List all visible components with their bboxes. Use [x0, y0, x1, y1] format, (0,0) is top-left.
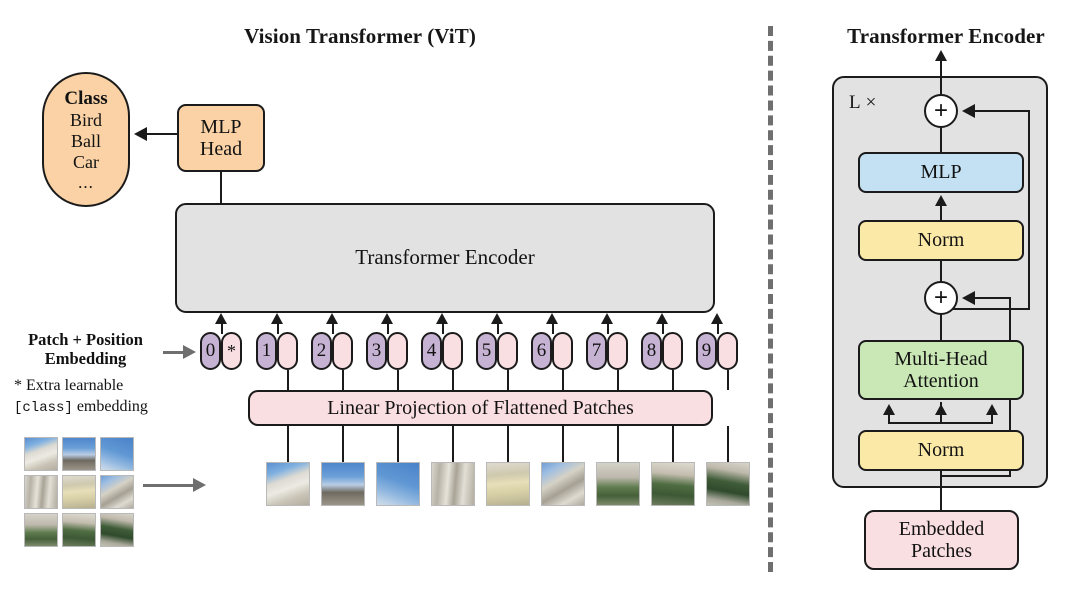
patch-stem-7 — [672, 426, 674, 466]
residual-add-top: + — [924, 94, 958, 128]
left-panel-title: Vision Transformer (ViT) — [150, 24, 570, 49]
mlp-block: MLP — [858, 152, 1024, 193]
add-top-to-output-line — [940, 76, 942, 96]
patch-stem-5 — [562, 426, 564, 466]
source-patch-4 — [62, 475, 96, 509]
extra-learnable-footnote: * Extra learnable [class] embedding — [14, 376, 194, 418]
patch-stem-0 — [287, 426, 289, 466]
flattened-patch-8 — [706, 462, 750, 506]
source-patch-7 — [62, 513, 96, 547]
linear-projection-box: Linear Projection of Flattened Patches — [248, 390, 713, 426]
patch-stem-2 — [397, 426, 399, 466]
flattened-patch-6 — [596, 462, 640, 506]
footnote-line2: [class] embedding — [14, 397, 194, 418]
token-value-pill-8 — [662, 332, 683, 370]
class-output-pill: Class Bird Ball Car ... — [42, 72, 130, 207]
mlp-head-line2: Head — [200, 138, 242, 160]
encoder-arrow-head-2 — [326, 313, 338, 324]
residual-add-bottom-symbol: + — [934, 286, 948, 310]
patch-token-8: 8 — [641, 332, 683, 370]
source-patch-6 — [24, 513, 58, 547]
transformer-encoder-label: Transformer Encoder — [355, 246, 534, 270]
embedded-to-norm-bottom-line — [940, 470, 942, 512]
flattened-patch-2 — [376, 462, 420, 506]
class-token-code: [class] — [14, 400, 73, 416]
mlp-head-box: MLP Head — [177, 104, 265, 172]
mlp-head-to-encoder-line — [220, 171, 222, 205]
class-pill-item-2: Car — [73, 152, 99, 173]
norm-bottom-block: Norm — [858, 430, 1024, 471]
mha-label-line2: Attention — [894, 370, 987, 392]
embedding-label-line2: Embedding — [8, 349, 163, 368]
patch-stem-4 — [507, 426, 509, 466]
token-index-pill-6: 6 — [531, 332, 552, 370]
patch-token-3: 3 — [366, 332, 408, 370]
encoder-arrow-head-5 — [491, 313, 503, 324]
token-value-pill-5 — [497, 332, 518, 370]
linear-projection-label: Linear Projection of Flattened Patches — [327, 397, 634, 419]
token-stem-9 — [727, 370, 729, 390]
repeat-count-label: L × — [849, 92, 877, 114]
qkv-arrowhead-k — [935, 404, 947, 415]
class-pill-item-0: Bird — [70, 110, 102, 131]
token-stem-5 — [507, 370, 509, 390]
panel-divider — [768, 26, 773, 572]
qkv-stem-v — [991, 414, 993, 424]
token-value-pill-4 — [442, 332, 463, 370]
skip-bottom-arrowhead — [962, 291, 975, 305]
token-value-pill-7 — [607, 332, 628, 370]
residual-add-top-symbol: + — [934, 99, 948, 123]
embedded-patches-line1: Embedded — [899, 518, 985, 540]
class-token-star: * — [227, 341, 236, 362]
multi-head-attention-block: Multi-Head Attention — [858, 340, 1024, 400]
token-stem-1 — [287, 370, 289, 390]
embedded-patches-block: Embedded Patches — [864, 510, 1019, 570]
skip-top-horizontal — [973, 110, 1030, 112]
footnote-line2-rest: embedding — [73, 398, 148, 415]
token-index-pill-3: 3 — [366, 332, 387, 370]
footnote-line1: * Extra learnable — [14, 376, 194, 397]
token-stem-2 — [342, 370, 344, 390]
qkv-arrowhead-q — [883, 404, 895, 415]
encoder-arrow-head-4 — [436, 313, 448, 324]
norm-top-to-mlp-arrowhead — [935, 195, 947, 206]
token-index-pill-8: 8 — [641, 332, 662, 370]
token-stem-4 — [452, 370, 454, 390]
norm-bottom-label: Norm — [918, 439, 965, 461]
source-image-patch-grid — [24, 437, 134, 547]
mlp-to-class-line — [146, 133, 178, 135]
flattened-patch-5 — [541, 462, 585, 506]
grid-to-sequence-arrowhead — [193, 478, 206, 492]
patch-token-9: 9 — [696, 332, 738, 370]
mlp-head-line1: MLP — [200, 116, 242, 138]
qkv-stem-q — [888, 414, 890, 424]
source-patch-0 — [24, 437, 58, 471]
token-index-pill-2: 2 — [311, 332, 332, 370]
embedding-label-arrow-line — [163, 351, 185, 354]
patch-position-embedding-label: Patch + Position Embedding — [8, 330, 163, 369]
token-value-pill-9 — [717, 332, 738, 370]
mha-to-add-bottom-line — [940, 314, 942, 342]
patch-stem-6 — [617, 426, 619, 466]
patch-stem-8 — [727, 426, 729, 466]
token-index-pill-9: 9 — [696, 332, 717, 370]
residual-add-bottom: + — [924, 281, 958, 315]
token-stem-8 — [672, 370, 674, 390]
class-pill-item-1: Ball — [71, 131, 101, 152]
source-patch-3 — [24, 475, 58, 509]
encoder-arrow-head-9 — [711, 313, 723, 324]
patch-token-5: 5 — [476, 332, 518, 370]
vit-architecture-figure: Vision Transformer (ViT) Class Bird Ball… — [0, 0, 1080, 593]
token-value-pill-6 — [552, 332, 573, 370]
skip-top-arrowhead — [962, 104, 975, 118]
token-value-pill-3 — [387, 332, 408, 370]
encoder-arrow-head-0 — [215, 313, 227, 324]
encoder-arrow-head-7 — [601, 313, 613, 324]
patch-token-2: 2 — [311, 332, 353, 370]
token-stem-6 — [562, 370, 564, 390]
flattened-patch-3 — [431, 462, 475, 506]
patch-stem-1 — [342, 426, 344, 466]
encoder-output-arrowhead — [935, 50, 947, 61]
token-index-pill-0: 0 — [200, 332, 221, 370]
embedded-patches-line2: Patches — [899, 540, 985, 562]
encoder-arrow-head-6 — [546, 313, 558, 324]
token-stem-7 — [617, 370, 619, 390]
skip-top-vertical — [1028, 110, 1030, 310]
embedding-label-arrowhead — [183, 345, 196, 359]
grid-to-sequence-line — [143, 484, 195, 487]
token-value-pill-2 — [332, 332, 353, 370]
source-patch-2 — [100, 437, 134, 471]
patch-token-7: 7 — [586, 332, 628, 370]
patch-stem-3 — [452, 426, 454, 466]
flattened-patch-4 — [486, 462, 530, 506]
mha-label-line1: Multi-Head — [894, 348, 987, 370]
mlp-block-label: MLP — [920, 161, 961, 183]
norm-top-label: Norm — [918, 229, 965, 251]
mlp-to-add-top-line — [940, 127, 942, 154]
patch-token-4: 4 — [421, 332, 463, 370]
patch-token-0: 0* — [200, 332, 242, 370]
encoder-arrow-head-8 — [656, 313, 668, 324]
token-index-pill-7: 7 — [586, 332, 607, 370]
embedding-label-line1: Patch + Position — [8, 330, 163, 349]
token-value-pill-0: * — [221, 332, 242, 370]
class-pill-ellipsis: ... — [78, 173, 94, 193]
token-value-pill-1 — [277, 332, 298, 370]
source-patch-8 — [100, 513, 134, 547]
class-pill-title: Class — [64, 88, 107, 110]
flattened-patch-7 — [651, 462, 695, 506]
norm-top-block: Norm — [858, 220, 1024, 261]
flattened-patch-1 — [321, 462, 365, 506]
skip-bottom-tap — [941, 475, 1011, 477]
patch-token-6: 6 — [531, 332, 573, 370]
mlp-to-class-arrowhead — [134, 127, 147, 141]
right-panel-title: Transformer Encoder — [812, 24, 1080, 49]
token-index-pill-4: 4 — [421, 332, 442, 370]
flattened-patch-0 — [266, 462, 310, 506]
source-patch-5 — [100, 475, 134, 509]
patch-token-1: 1 — [256, 332, 298, 370]
token-index-pill-1: 1 — [256, 332, 277, 370]
token-stem-3 — [397, 370, 399, 390]
transformer-encoder-box: Transformer Encoder — [175, 203, 715, 313]
source-patch-1 — [62, 437, 96, 471]
token-index-pill-5: 5 — [476, 332, 497, 370]
skip-bottom-horizontal — [973, 297, 1011, 299]
encoder-arrow-head-1 — [271, 313, 283, 324]
encoder-arrow-head-3 — [381, 313, 393, 324]
qkv-arrowhead-v — [986, 404, 998, 415]
